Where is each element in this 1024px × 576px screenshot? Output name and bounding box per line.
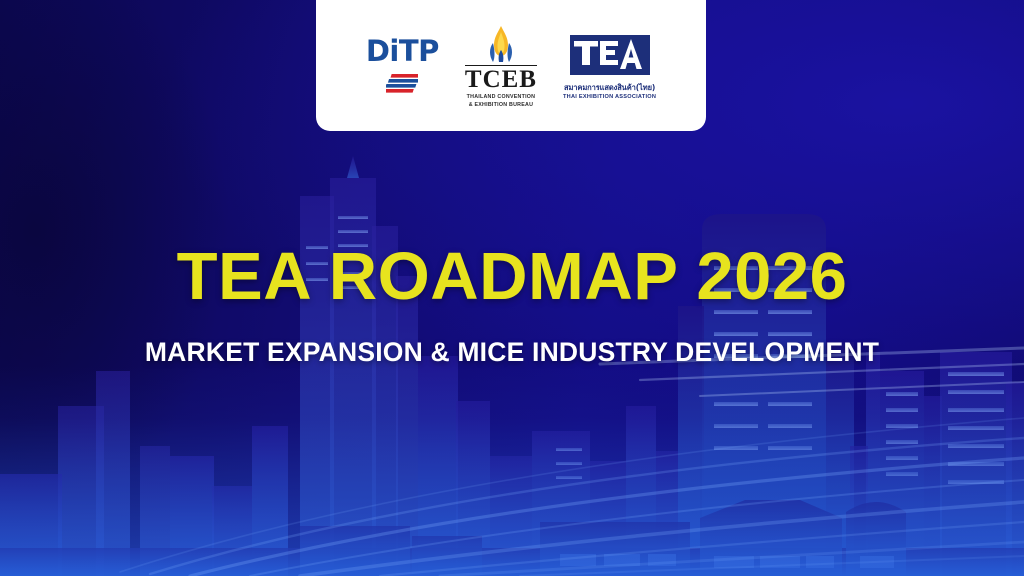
flame-icon (484, 26, 518, 64)
partner-logo-bar: DiTP (316, 0, 706, 131)
thai-flag-stripes-icon (386, 73, 418, 98)
presentation-slide: DiTP (0, 0, 1024, 576)
tceb-wordmark: TCEB (465, 65, 537, 92)
ditp-wordmark: DiTP (366, 37, 439, 66)
tea-thai-name: สมาคมการแสดงสินค้า(ไทย) (564, 84, 655, 92)
tea-subtitle: THAI EXHIBITION ASSOCIATION (563, 94, 656, 100)
tceb-subtitle-line1: THAILAND CONVENTION (467, 94, 536, 100)
tceb-subtitle-line2: & EXHIBITION BUREAU (469, 102, 534, 108)
slide-subtitle: MARKET EXPANSION & MICE INDUSTRY DEVELOP… (0, 338, 1024, 367)
logo-tea: สมาคมการแสดงสินค้า(ไทย) THAI EXHIBITION … (563, 35, 656, 99)
logo-ditp: DiTP (366, 37, 439, 98)
slide-title: TEA ROADMAP 2026 (0, 243, 1024, 311)
tceb-subtitle: THAILAND CONVENTION & EXHIBITION BUREAU (467, 94, 536, 108)
logo-tceb: TCEB THAILAND CONVENTION & EXHIBITION BU… (465, 26, 537, 108)
light-streaks-artwork (0, 346, 1024, 576)
tea-monogram-icon (568, 35, 652, 82)
headline-block: TEA ROADMAP 2026 MARKET EXPANSION & MICE… (0, 243, 1024, 367)
